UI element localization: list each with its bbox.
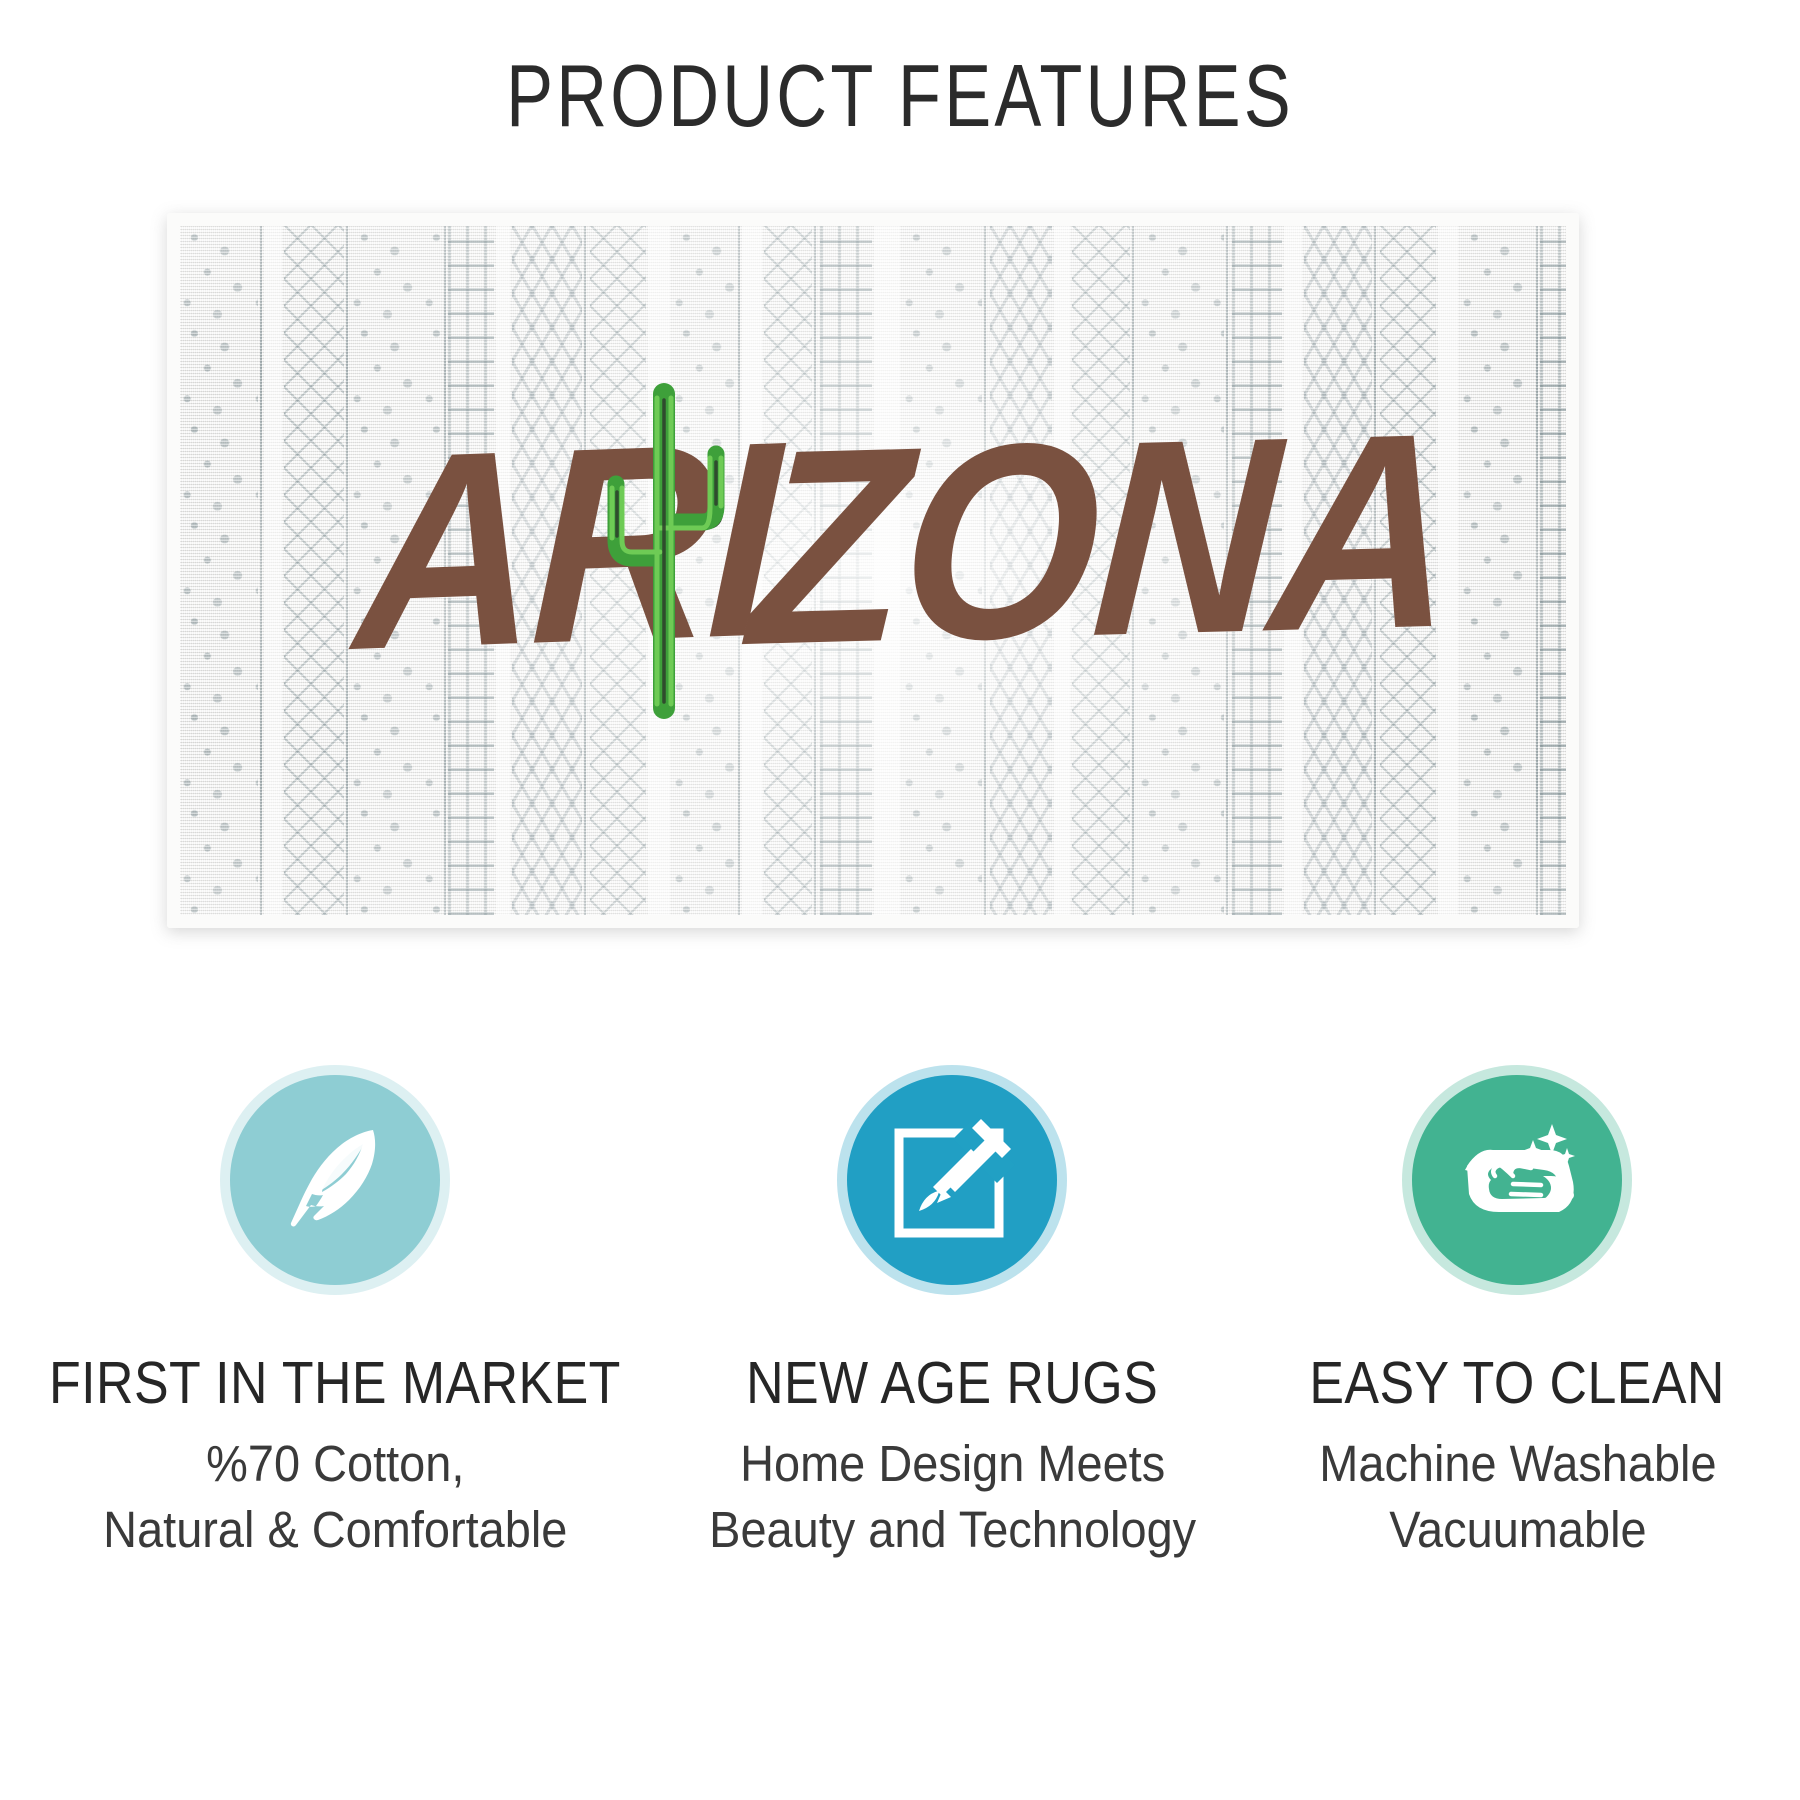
feature-description: Home Design Meets Beauty and Technology [709, 1431, 1196, 1564]
feature-description-line: Beauty and Technology [709, 1497, 1196, 1563]
design-pen-square-icon [885, 1113, 1019, 1247]
feature-title: FIRST IN THE MARKET [49, 1349, 621, 1417]
feature-badge-clean [1412, 1075, 1622, 1285]
feature-badge-feather [230, 1075, 440, 1285]
feature-description-line: %70 Cotton, [103, 1431, 567, 1497]
feature-description-line: Vacuumable [1319, 1497, 1716, 1563]
feature-first-in-the-market: FIRST IN THE MARKET %70 Cotton, Natural … [0, 1075, 670, 1564]
feature-description: Machine Washable Vacuumable [1319, 1431, 1716, 1564]
feature-title: EASY TO CLEAN [1310, 1349, 1726, 1417]
hand-wiping-sparkle-icon [1447, 1110, 1587, 1250]
feature-description-line: Home Design Meets [709, 1431, 1196, 1497]
feature-columns: FIRST IN THE MARKET %70 Cotton, Natural … [0, 1075, 1800, 1564]
feature-description-line: Machine Washable [1319, 1431, 1716, 1497]
rug-surface: ARI [167, 213, 1579, 928]
feather-icon [269, 1114, 401, 1246]
feature-description-line: Natural & Comfortable [103, 1497, 567, 1563]
feature-easy-to-clean: EASY TO CLEAN Machine Washable Vacuumabl… [1235, 1075, 1800, 1564]
feature-description: %70 Cotton, Natural & Comfortable [103, 1431, 567, 1564]
product-rug-image: ARI [167, 213, 1579, 928]
feature-title: NEW AGE RUGS [746, 1349, 1158, 1417]
feature-badge-design [847, 1075, 1057, 1285]
feature-new-age-rugs: NEW AGE RUGS Home Design Meets Beauty an… [670, 1075, 1235, 1564]
page-title: PRODUCT FEATURES [180, 50, 1620, 142]
rug-tribal-pattern-bands [180, 226, 1566, 915]
